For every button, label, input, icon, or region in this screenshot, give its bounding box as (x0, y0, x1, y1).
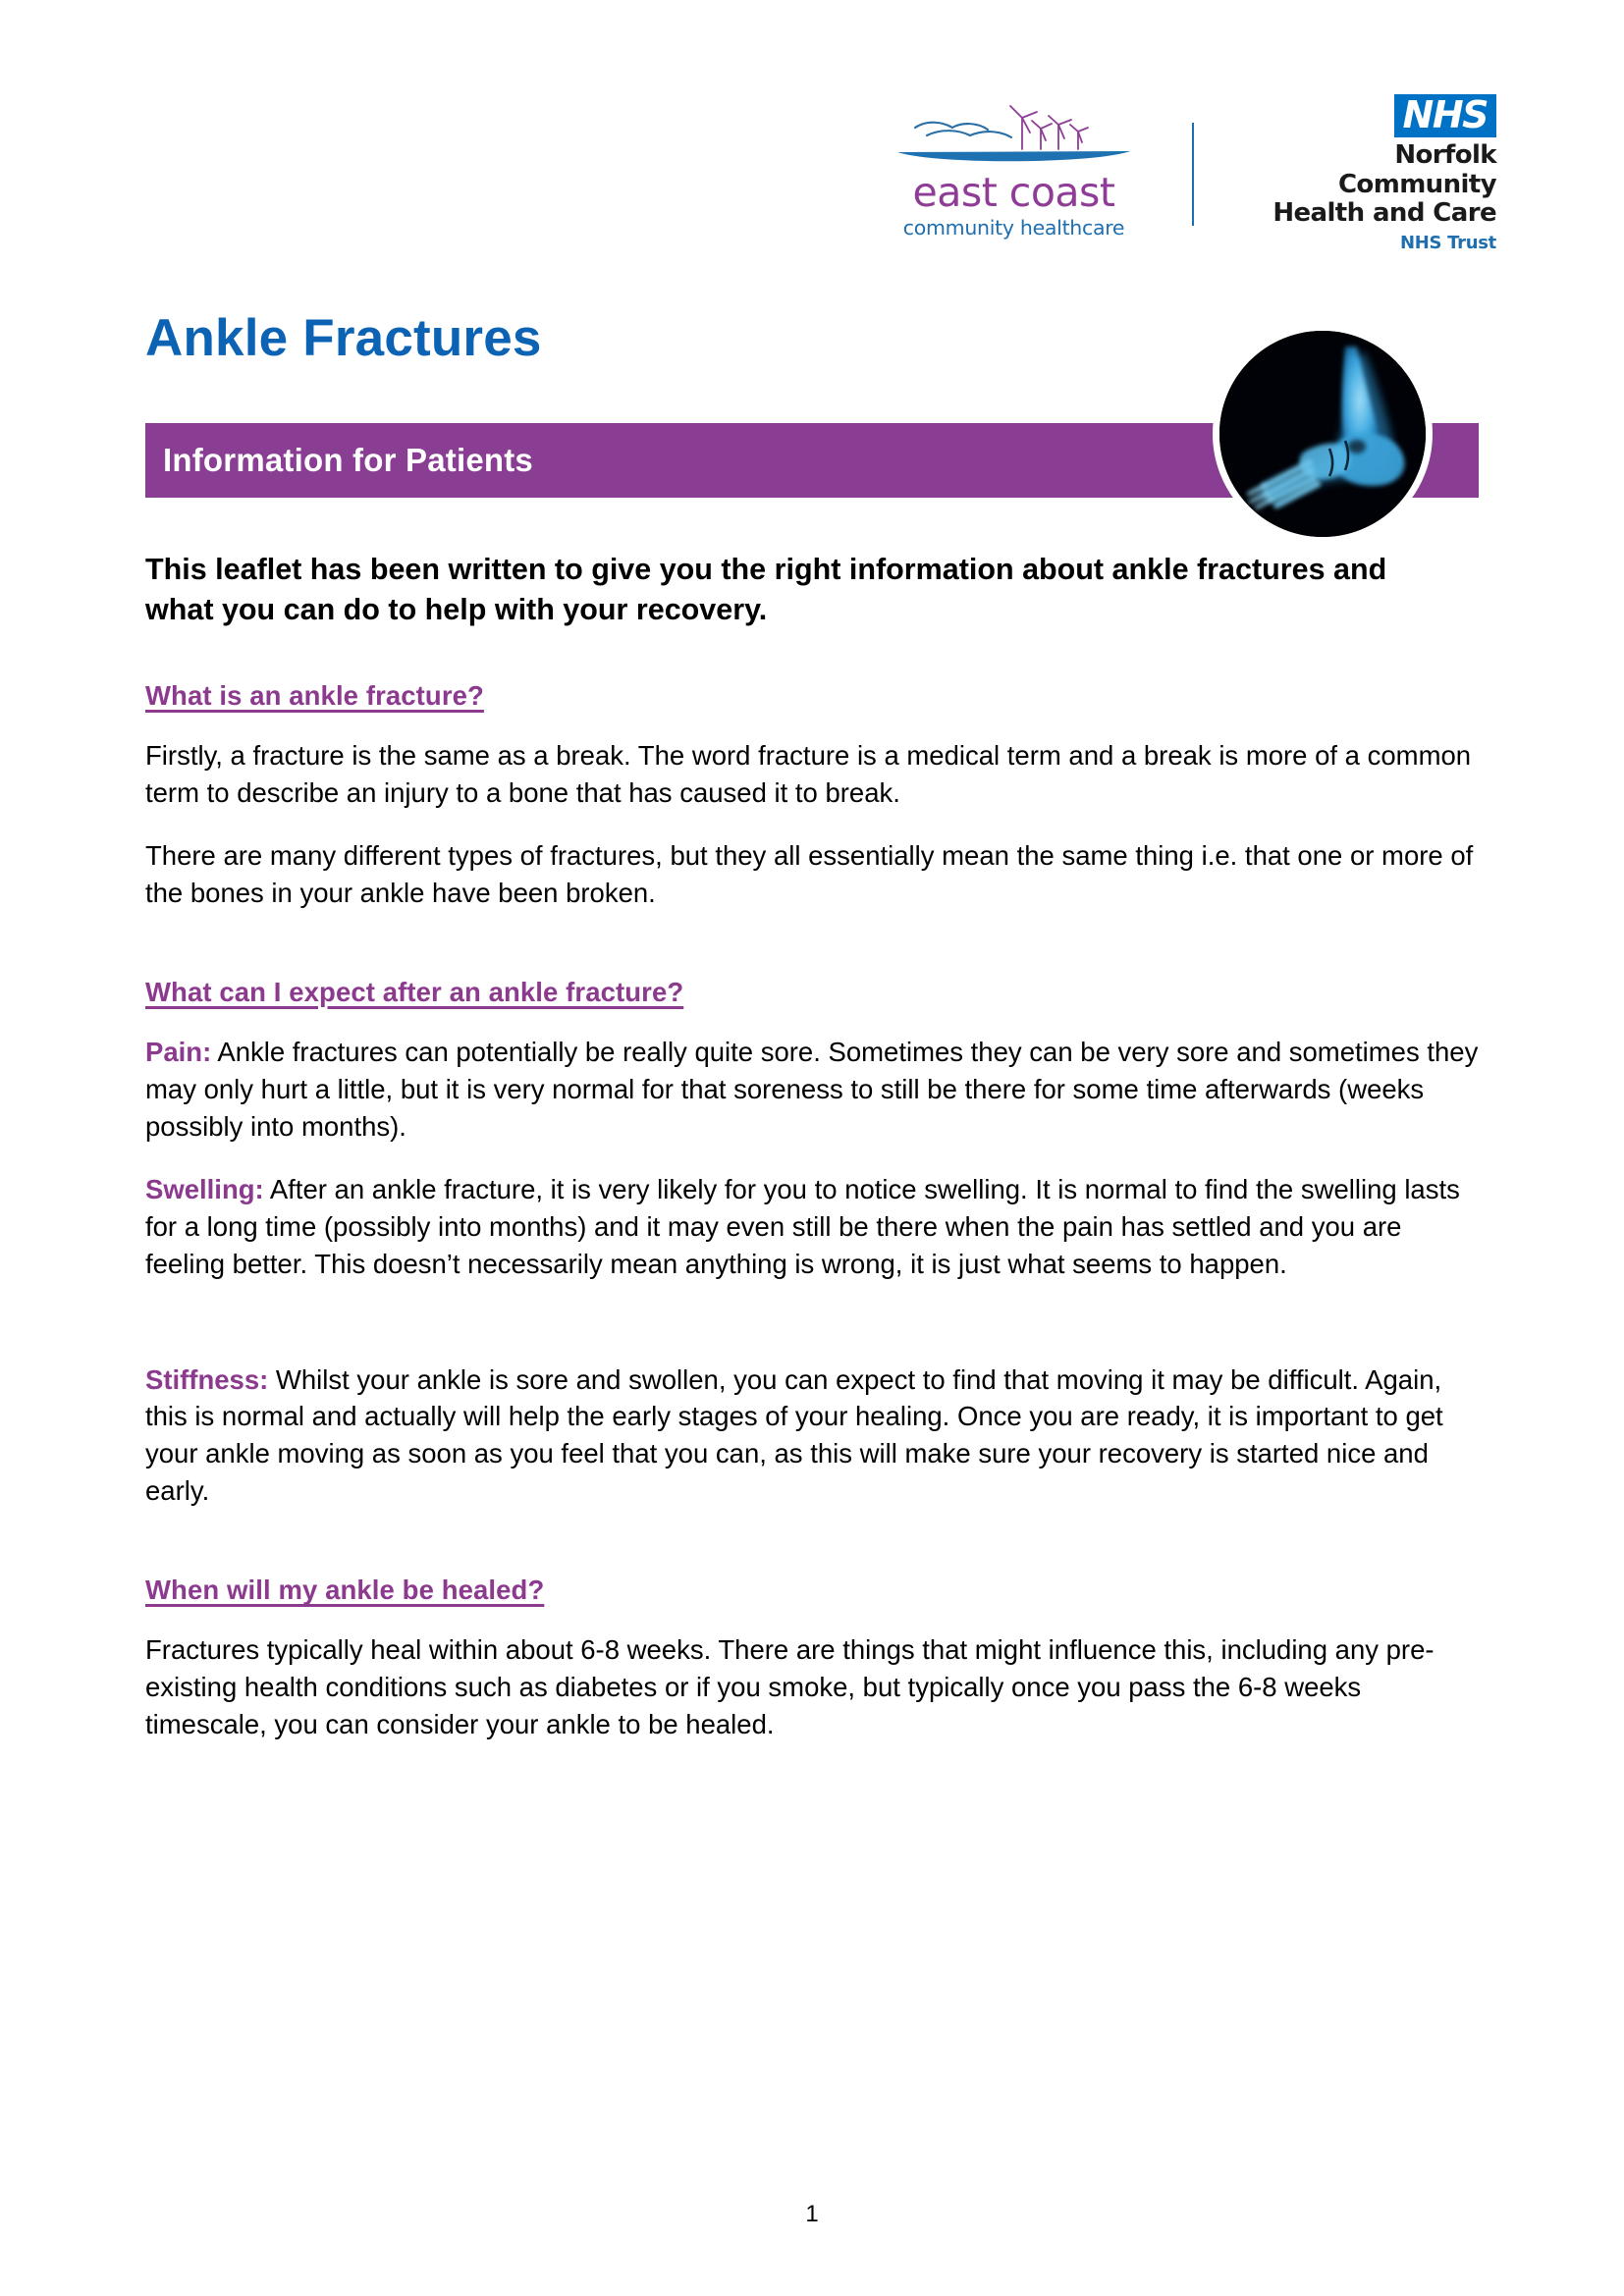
ecch-logo: east coast community healthcare (879, 100, 1149, 247)
page-number: 1 (0, 2201, 1624, 2228)
intro-paragraph: This leaflet has been written to give yo… (145, 550, 1417, 629)
paragraph-fracture-definition: Firstly, a fracture is the same as a bre… (145, 737, 1479, 812)
ankle-xray-image (1213, 324, 1433, 544)
xray-foot-graphic (1219, 331, 1426, 537)
section-heading-what-can-i-expect: What can I expect after an ankle fractur… (145, 977, 1479, 1008)
paragraph-stiffness: Stiffness: Whilst your ankle is sore and… (145, 1362, 1479, 1511)
label-pain: Pain: (145, 1037, 211, 1067)
nhs-logo: NHS Norfolk Community Health and Care NH… (1241, 94, 1496, 253)
paragraph-swelling-text: After an ankle fracture, it is very like… (145, 1174, 1460, 1279)
section-heading-what-is-an-ankle-fracture: What is an ankle fracture? (145, 680, 1479, 712)
paragraph-fracture-types: There are many different types of fractu… (145, 837, 1479, 912)
paragraph-swelling: Swelling: After an ankle fracture, it is… (145, 1171, 1479, 1283)
paragraph-healing-time: Fractures typically heal within about 6-… (145, 1631, 1479, 1743)
paragraph-pain: Pain: Ankle fractures can potentially be… (145, 1034, 1479, 1146)
paragraph-pain-text: Ankle fractures can potentially be reall… (145, 1037, 1478, 1142)
logo-divider (1192, 123, 1194, 226)
label-stiffness: Stiffness: (145, 1364, 268, 1395)
nhs-blue-box: NHS (1394, 94, 1496, 137)
subtitle-banner-text: Information for Patients (163, 442, 533, 479)
paragraph-stiffness-text: Whilst your ankle is sore and swollen, y… (145, 1364, 1443, 1507)
windfarm-seascape-icon (893, 100, 1134, 171)
nhs-trust-line-2: Health and Care (1241, 199, 1496, 229)
page-title: Ankle Fractures (145, 312, 542, 364)
header-logo-row: east coast community healthcare NHS Norf… (879, 90, 1517, 257)
document-page: east coast community healthcare NHS Norf… (0, 0, 1624, 2296)
nhs-trust-label: NHS Trust (1241, 233, 1496, 253)
main-content: This leaflet has been written to give yo… (145, 550, 1479, 1769)
section-heading-when-will-my-ankle-be-healed: When will my ankle be healed? (145, 1575, 1479, 1606)
ecch-logo-tagline: community healthcare (879, 218, 1149, 239)
nhs-trust-line-1: Norfolk Community (1241, 141, 1496, 199)
nhs-mark-text: NHS (1403, 96, 1488, 133)
ecch-logo-name: east coast (879, 173, 1149, 213)
label-swelling: Swelling: (145, 1174, 264, 1204)
